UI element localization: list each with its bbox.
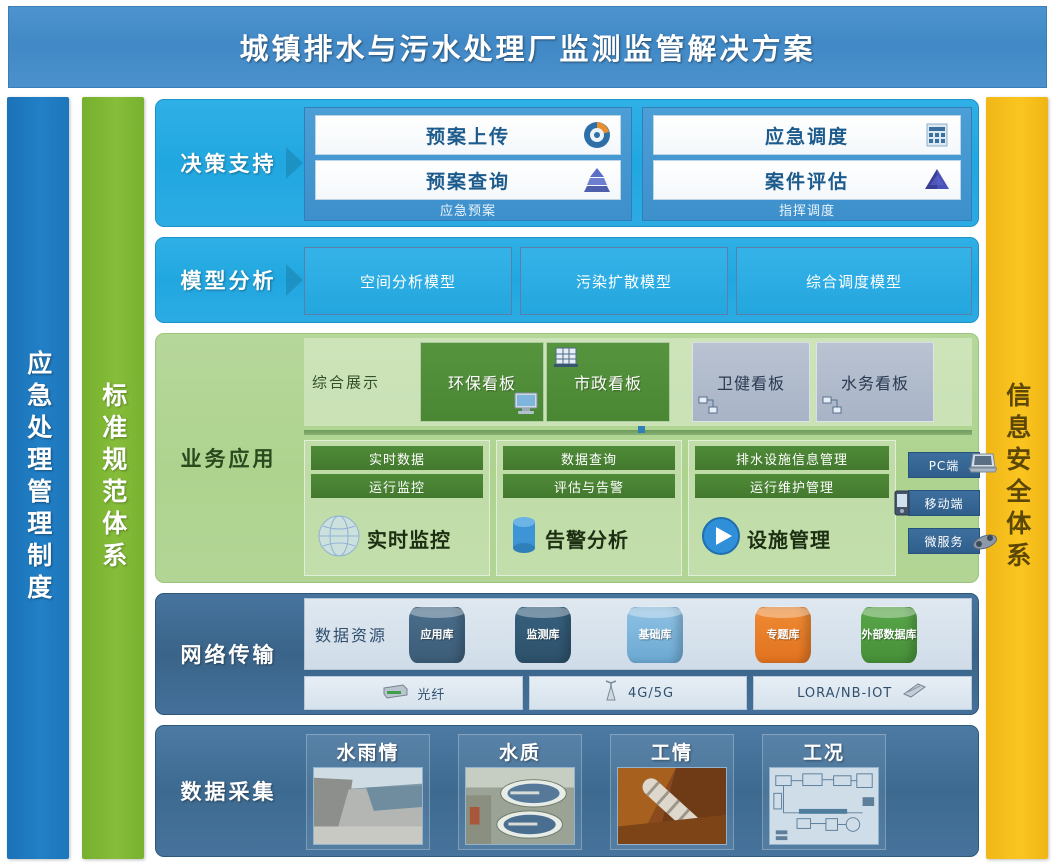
globe-icon [315,512,363,564]
kanban-water-affairs-label: 水务看板 [841,370,909,394]
layer-business-application: 业务应用 综合展示 环保看板 市政看板 [155,333,979,583]
collection-card-operating-condition-label: 工况 [763,737,885,765]
network-link-cellular-label: 4G/5G [628,686,674,701]
business-strip-operation-monitoring[interactable]: 运行监控 [311,474,483,498]
river-channel-photo [313,767,423,845]
collection-card-hydrology[interactable]: 水雨情 [306,734,430,850]
solution-architecture-diagram: 城镇排水与污水处理厂监测监管解决方案 应急处理管理制度 标准规范体系 信息安全体… [0,0,1055,868]
model-box-pollution-diffusion[interactable]: 污染扩散模型 [520,247,728,315]
business-strip-assessment-alarm-label: 评估与告警 [554,477,624,496]
decision-item-case-assessment[interactable]: 案件评估 [653,160,961,200]
data-resources-label: 数据资源 [315,622,387,646]
layer-business-application-label: 业务应用 [156,334,301,582]
sedimentation-tanks-photo [465,767,575,845]
endpoint-pc[interactable]: PC端 [908,452,980,478]
business-column-alarm: 数据查询 评估与告警 告警分析 [496,440,682,576]
play-circle-icon [699,514,743,562]
model-box-integrated-dispatch-label: 综合调度模型 [806,271,902,292]
business-main-alarm-analysis[interactable]: 告警分析 [503,505,675,571]
decision-group-emergency-plan: 预案上传 预案查询 [304,107,632,221]
grid-table-icon [922,120,952,150]
layer-data-collection: 数据采集 水雨情 水质 [155,725,979,857]
layer-decision-support-label: 决策支持 [156,100,301,226]
network-link-cellular[interactable]: 4G/5G [529,676,748,710]
database-application-label: 应用库 [421,629,454,642]
decision-item-plan-upload-label: 预案上传 [426,122,510,149]
model-box-spatial-analysis-label: 空间分析模型 [360,271,456,292]
decision-group-command-dispatch-title: 指挥调度 [643,200,971,219]
business-strip-drainage-facility-info[interactable]: 排水设施信息管理 [695,446,889,470]
business-column-monitoring: 实时数据 运行监控 实时监控 [304,440,490,576]
business-strip-drainage-facility-info-label: 排水设施信息管理 [736,449,848,468]
kanban-health[interactable]: 卫健看板 [692,342,810,422]
business-strip-operation-maintenance[interactable]: 运行维护管理 [695,474,889,498]
business-column-facility: 排水设施信息管理 运行维护管理 设施管理 [688,440,896,576]
sensor-module-icon [900,682,928,704]
layer-network-transmission: 网络传输 数据资源 应用库 监测库 基础库 专题库 外部数据库 [155,593,979,715]
kanban-environment[interactable]: 环保看板 [420,342,544,422]
page-title: 城镇排水与污水处理厂监测监管解决方案 [239,26,815,68]
collection-card-water-quality-label: 水质 [459,737,581,765]
data-resources-panel: 数据资源 应用库 监测库 基础库 专题库 外部数据库 [304,598,972,670]
gauge-icon [582,120,612,150]
database-application[interactable]: 应用库 [409,607,465,663]
laptop-icon [967,451,997,478]
business-main-alarm-analysis-label: 告警分析 [545,524,629,553]
kanban-water-affairs[interactable]: 水务看板 [816,342,934,422]
pipeline-trench-photo [617,767,727,845]
database-thematic[interactable]: 专题库 [755,607,811,663]
endpoint-microservice-label: 微服务 [924,533,963,550]
endpoint-microservice[interactable]: 微服务 [908,528,980,554]
layer-model-analysis: 模型分析 空间分析模型 污染扩散模型 综合调度模型 [155,237,979,323]
diagram-title-bar: 城镇排水与污水处理厂监测监管解决方案 [8,6,1047,88]
kanban-environment-label: 环保看板 [448,370,516,394]
business-strip-data-query-label: 数据查询 [561,449,617,468]
network-link-lora[interactable]: LORA/NB-IOT [753,676,972,710]
business-divider [304,430,972,435]
fiber-optic-icon [381,682,409,704]
monitor-icon [513,391,539,419]
database-external-label: 外部数据库 [862,629,917,642]
antenna-icon [602,680,620,706]
model-box-integrated-dispatch[interactable]: 综合调度模型 [736,247,972,315]
network-icon [697,395,719,419]
database-thematic-label: 专题库 [767,629,800,642]
decision-group-command-dispatch: 应急调度 案件评估 [642,107,972,221]
layer-decision-support: 决策支持 预案上传 预案查询 [155,99,979,227]
decision-item-plan-upload[interactable]: 预案上传 [315,115,621,155]
collection-card-water-quality[interactable]: 水质 [458,734,582,850]
collection-card-works-status[interactable]: 工情 [610,734,734,850]
kanban-municipal[interactable]: 市政看板 [546,342,670,422]
model-box-spatial-analysis[interactable]: 空间分析模型 [304,247,512,315]
network-links-row: 光纤 4G/5G LORA/NB-IOT [304,676,972,710]
pillar-information-security: 信息安全体系 [986,97,1048,859]
network-link-lora-label: LORA/NB-IOT [797,686,892,701]
decision-item-emergency-dispatch-label: 应急调度 [765,122,849,149]
kanban-health-label: 卫健看板 [717,370,785,394]
pillar-information-security-label: 信息安全体系 [1003,382,1031,574]
pillar-emergency-management: 应急处理管理制度 [7,97,69,859]
business-main-realtime-monitoring-label: 实时监控 [367,524,451,553]
endpoint-pc-label: PC端 [929,457,960,474]
model-box-pollution-diffusion-label: 污染扩散模型 [576,271,672,292]
pillar-standards-system-label: 标准规范体系 [99,382,127,574]
decision-item-plan-query-label: 预案查询 [426,167,510,194]
network-link-fiber-label: 光纤 [417,684,445,703]
kanban-municipal-label: 市政看板 [574,370,642,394]
scada-schematic-photo [769,767,879,845]
microservice-icon [969,529,999,556]
database-basic[interactable]: 基础库 [627,607,683,663]
network-link-fiber[interactable]: 光纤 [304,676,523,710]
business-strip-assessment-alarm[interactable]: 评估与告警 [503,474,675,498]
layer-network-transmission-label: 网络传输 [156,594,301,714]
decision-item-case-assessment-label: 案件评估 [765,167,849,194]
decision-group-emergency-plan-title: 应急预案 [305,200,631,219]
decision-item-plan-query[interactable]: 预案查询 [315,160,621,200]
collection-card-works-status-label: 工情 [611,737,733,765]
business-showcase-row: 综合展示 环保看板 市政看板 [304,338,972,426]
endpoint-mobile[interactable]: 移动端 [908,490,980,516]
database-basic-label: 基础库 [639,629,672,642]
business-strip-data-query[interactable]: 数据查询 [503,446,675,470]
pillar-standards-system: 标准规范体系 [82,97,144,859]
layer-data-collection-label: 数据采集 [156,726,301,856]
business-strip-operation-monitoring-label: 运行监控 [369,477,425,496]
collection-card-operating-condition[interactable]: 工况 [762,734,886,850]
database-external[interactable]: 外部数据库 [861,607,917,663]
business-strip-realtime-data[interactable]: 实时数据 [311,446,483,470]
business-showcase-label: 综合展示 [312,372,380,393]
pillar-emergency-management-label: 应急处理管理制度 [24,350,52,606]
endpoint-mobile-label: 移动端 [924,495,963,512]
collection-card-hydrology-label: 水雨情 [307,737,429,765]
building-icon [553,345,579,373]
business-main-facility-management[interactable]: 设施管理 [695,505,889,571]
business-main-realtime-monitoring[interactable]: 实时监控 [311,505,483,571]
business-strip-realtime-data-label: 实时数据 [369,449,425,468]
database-monitoring[interactable]: 监测库 [515,607,571,663]
database-cylinder-icon [507,514,541,562]
pyramid-3d-icon [922,165,952,195]
mobile-phone-icon [893,490,911,519]
business-strip-operation-maintenance-label: 运行维护管理 [750,477,834,496]
pyramid-chart-icon [582,165,612,195]
business-main-facility-management-label: 设施管理 [747,524,831,553]
database-monitoring-label: 监测库 [527,629,560,642]
layer-model-analysis-label: 模型分析 [156,238,301,322]
network-icon [821,395,843,419]
decision-item-emergency-dispatch[interactable]: 应急调度 [653,115,961,155]
